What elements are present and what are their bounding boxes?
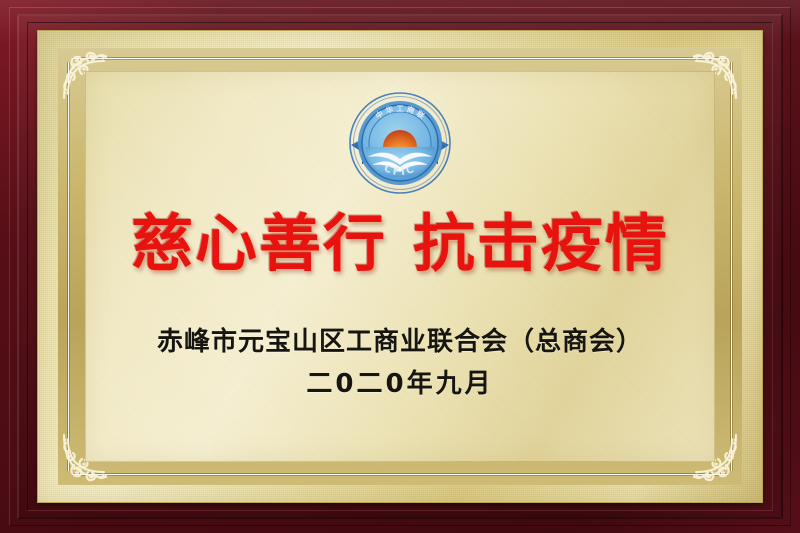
issuing-organization: 赤峰市元宝山区工商业联合会（总商会） [85,321,715,358]
band-hairline-right [730,62,733,471]
cfic-emblem-icon: 中 华 工 商 联 CFIC [346,89,454,197]
title-line-1: 慈心善行 [131,207,387,280]
award-plaque: 中 华 工 商 联 CFIC 慈心善行抗击疫情 赤峰市元宝山区工商业联合会（总商… [0,0,800,533]
band-hairline-top [72,57,728,60]
title-line-2: 抗击疫情 [413,207,669,280]
cfic-emblem: 中 华 工 商 联 CFIC [346,89,454,197]
certificate-content-area: 中 华 工 商 联 CFIC 慈心善行抗击疫情 赤峰市元宝山区工商业联合会（总商… [85,71,715,462]
page-title: 慈心善行抗击疫情 [85,193,715,283]
issue-date: 二0二0年九月 [85,363,715,400]
certificate-panel: 中 华 工 商 联 CFIC 慈心善行抗击疫情 赤峰市元宝山区工商业联合会（总商… [38,31,762,502]
band-hairline-left [67,62,70,471]
band-hairline-bottom [72,473,728,476]
